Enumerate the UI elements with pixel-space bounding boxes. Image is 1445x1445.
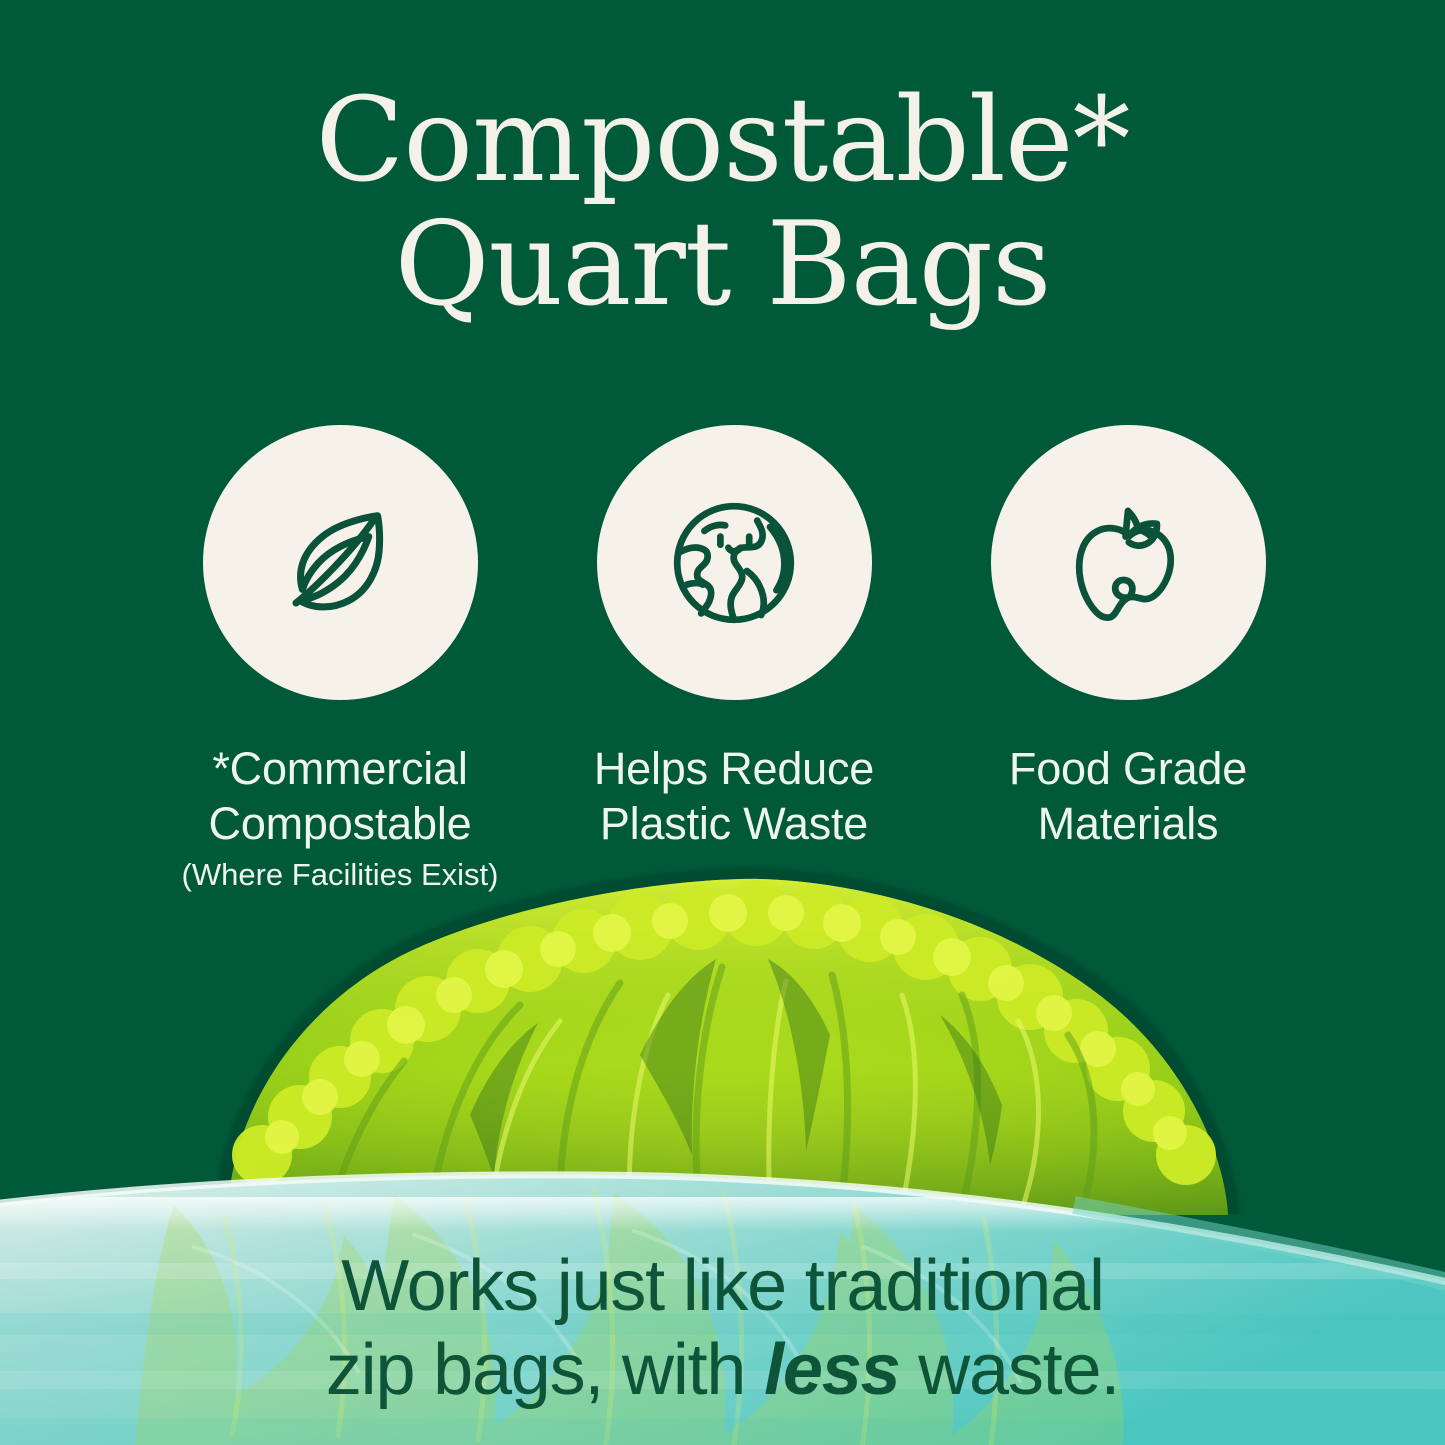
feature-label: *Commercial Compostable (Where Facilitie… xyxy=(182,742,499,893)
feature-icon-badge xyxy=(597,425,872,700)
feature-food-grade-materials: Food Grade Materials xyxy=(956,425,1300,852)
feature-row: *Commercial Compostable (Where Facilitie… xyxy=(168,425,1300,893)
feature-sublabel: (Where Facilities Exist) xyxy=(182,856,499,893)
smiling-earth-icon xyxy=(654,483,814,643)
feature-helps-reduce-plastic-waste: Helps Reduce Plastic Waste xyxy=(562,425,906,852)
tagline-line-2: zip bags, with less waste. xyxy=(0,1328,1445,1412)
feature-label-line-1: *Commercial xyxy=(182,742,499,797)
tagline-line-1: Works just like traditional xyxy=(0,1244,1445,1328)
feature-label: Helps Reduce Plastic Waste xyxy=(594,742,874,852)
feature-commercial-compostable: *Commercial Compostable (Where Facilitie… xyxy=(168,425,512,893)
feature-label-line-1: Helps Reduce xyxy=(594,742,874,797)
feature-label-line-2: Plastic Waste xyxy=(594,797,874,852)
tagline: Works just like traditional zip bags, wi… xyxy=(0,1244,1445,1412)
tagline-line-2-before: zip bags, with xyxy=(326,1330,764,1410)
title-line-1: Compostable* xyxy=(0,76,1445,206)
bitten-apple-icon xyxy=(1048,483,1208,643)
product-feature-graphic: Compostable* Quart Bags *Commercial Comp… xyxy=(0,0,1445,1445)
feature-icon-badge xyxy=(991,425,1266,700)
feature-label-line-2: Materials xyxy=(1009,797,1247,852)
feature-label-line-1: Food Grade xyxy=(1009,742,1247,797)
feature-icon-badge xyxy=(203,425,478,700)
feature-label: Food Grade Materials xyxy=(1009,742,1247,852)
leaf-icon xyxy=(260,483,420,643)
page-title: Compostable* Quart Bags xyxy=(0,76,1445,330)
title-line-2: Quart Bags xyxy=(0,200,1445,330)
tagline-line-2-after: waste. xyxy=(899,1330,1119,1410)
tagline-emphasis: less xyxy=(764,1330,899,1410)
feature-label-line-2: Compostable xyxy=(182,797,499,852)
